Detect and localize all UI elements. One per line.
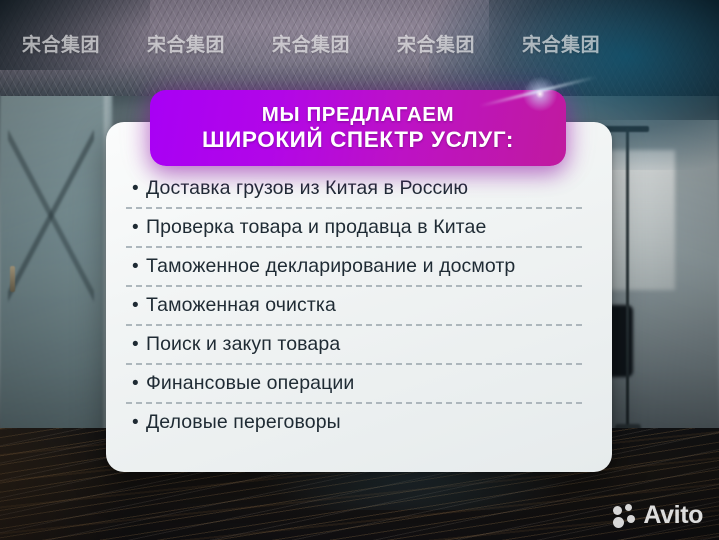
watermark-text: 宋合集团 <box>22 30 100 57</box>
avito-dots-icon <box>613 504 637 528</box>
list-item-label: Деловые переговоры <box>146 411 341 434</box>
list-item: • Доставка грузов из Китая в Россию <box>126 170 596 209</box>
watermark-text: 宋合集团 <box>397 30 475 57</box>
list-item: • Финансовые операции <box>126 365 596 404</box>
bullet-icon: • <box>126 257 146 276</box>
list-item-label: Проверка товара и продавца в Китае <box>146 216 486 239</box>
list-item: • Таможенная очистка <box>126 287 596 326</box>
headline-line-1: МЫ ПРЕДЛАГАЕМ <box>262 104 454 127</box>
bullet-icon: • <box>126 374 146 393</box>
list-item-label: Доставка грузов из Китая в Россию <box>146 177 468 200</box>
list-item-label: Таможенная очистка <box>146 294 336 317</box>
list-item: • Проверка товара и продавца в Китае <box>126 209 596 248</box>
bullet-icon: • <box>126 218 146 237</box>
promo-image: 宋合集团 宋合集团 宋合集团 宋合集团 宋合集团 • Доставка груз… <box>0 0 719 540</box>
list-item: • Таможенное декларирование и досмотр <box>126 248 596 287</box>
list-item-label: Поиск и закуп товара <box>146 333 340 356</box>
bullet-icon: • <box>126 413 146 432</box>
watermark-text: 宋合集团 <box>522 30 600 57</box>
services-list: • Доставка грузов из Китая в Россию • Пр… <box>126 170 596 441</box>
headline-line-2: ШИРОКИЙ СПЕКТР УСЛУГ: <box>202 127 514 152</box>
headline-banner: МЫ ПРЕДЛАГАЕМ ШИРОКИЙ СПЕКТР УСЛУГ: <box>150 90 566 166</box>
watermark-text: 宋合集团 <box>272 30 350 57</box>
avito-logo: Avito <box>613 503 703 528</box>
bullet-icon: • <box>126 179 146 198</box>
watermark-text: 宋合集团 <box>147 30 225 57</box>
list-item-label: Финансовые операции <box>146 372 354 395</box>
list-item-label: Таможенное декларирование и досмотр <box>146 255 515 278</box>
watermark-row: 宋合集团 宋合集团 宋合集团 宋合集团 宋合集团 <box>0 28 719 58</box>
list-item: • Поиск и закуп товара <box>126 326 596 365</box>
avito-wordmark: Avito <box>643 503 703 528</box>
bullet-icon: • <box>126 335 146 354</box>
bullet-icon: • <box>126 296 146 315</box>
list-item: • Деловые переговоры <box>126 404 596 441</box>
